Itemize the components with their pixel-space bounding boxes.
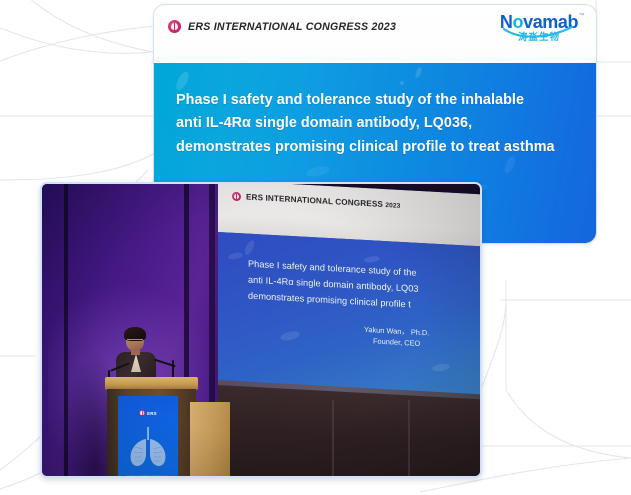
decorative-bubble: [227, 252, 243, 261]
podium-ers-logo: ERS: [139, 410, 157, 416]
decorative-bubble: [431, 363, 450, 373]
novamab-chinese-name: 涛泴生物: [496, 33, 582, 43]
projected-slide-title: Phase I safety and tolerance study of th…: [248, 256, 419, 314]
photo-content: ERS INTERNATIONAL CONGRESS 2023 Phase I …: [42, 184, 480, 476]
podium-footer-label: ERS INTERNATIONAL: [118, 475, 178, 476]
presentation-photo: ERS INTERNATIONAL CONGRESS 2023 Phase I …: [40, 182, 482, 478]
decorative-bubble: [305, 165, 330, 179]
side-table: [190, 402, 230, 476]
ers-circle-logo-icon: [139, 410, 145, 416]
decorative-bubble: [414, 66, 423, 78]
ers-circle-logo-icon: [168, 20, 181, 33]
slide-title-line-3: demonstrates promising clinical profile …: [176, 136, 576, 159]
decorative-bubble: [400, 81, 404, 85]
slide-title: Phase I safety and tolerance study of th…: [176, 89, 576, 159]
stage-panel-divider: [332, 400, 334, 476]
podium-branding-panel: ERS ERS INTERNATIONAL: [118, 396, 178, 476]
novamab-wordmark: Novamab™: [500, 13, 578, 31]
stage-panel-divider: [408, 400, 410, 476]
slide-title-line-1: Phase I safety and tolerance study of th…: [176, 89, 576, 112]
projection-screen: ERS INTERNATIONAL CONGRESS 2023 Phase I …: [218, 184, 480, 413]
slide-card-header: ERS INTERNATIONAL CONGRESS 2023 Novamab™…: [154, 5, 596, 63]
projected-congress-year: 2023: [385, 202, 400, 210]
screenshot-stage: ERS INTERNATIONAL CONGRESS 2023 Novamab™…: [0, 0, 631, 495]
novamab-logo: Novamab™ 涛泴生物: [496, 13, 582, 43]
ers-circle-logo-icon: [232, 192, 241, 201]
slide-title-line-2: anti IL-4Rα single domain antibody, LQ03…: [176, 112, 576, 135]
podium-ers-label: ERS: [147, 411, 157, 416]
projected-slide-author: Yakun Wan， Ph.D. Founder, CEO: [364, 324, 429, 350]
decorative-bubble: [243, 239, 256, 256]
congress-label: ERS INTERNATIONAL CONGRESS 2023: [188, 21, 396, 33]
trademark-symbol: ™: [579, 13, 585, 19]
stage-front-panel: [218, 385, 480, 476]
lungs-icon: [127, 427, 169, 467]
speaker-glasses-icon: [127, 339, 143, 343]
decorative-bubble: [279, 330, 300, 342]
ers-logo-group: ERS INTERNATIONAL CONGRESS 2023: [168, 20, 396, 33]
microphone-stand: [172, 360, 174, 378]
